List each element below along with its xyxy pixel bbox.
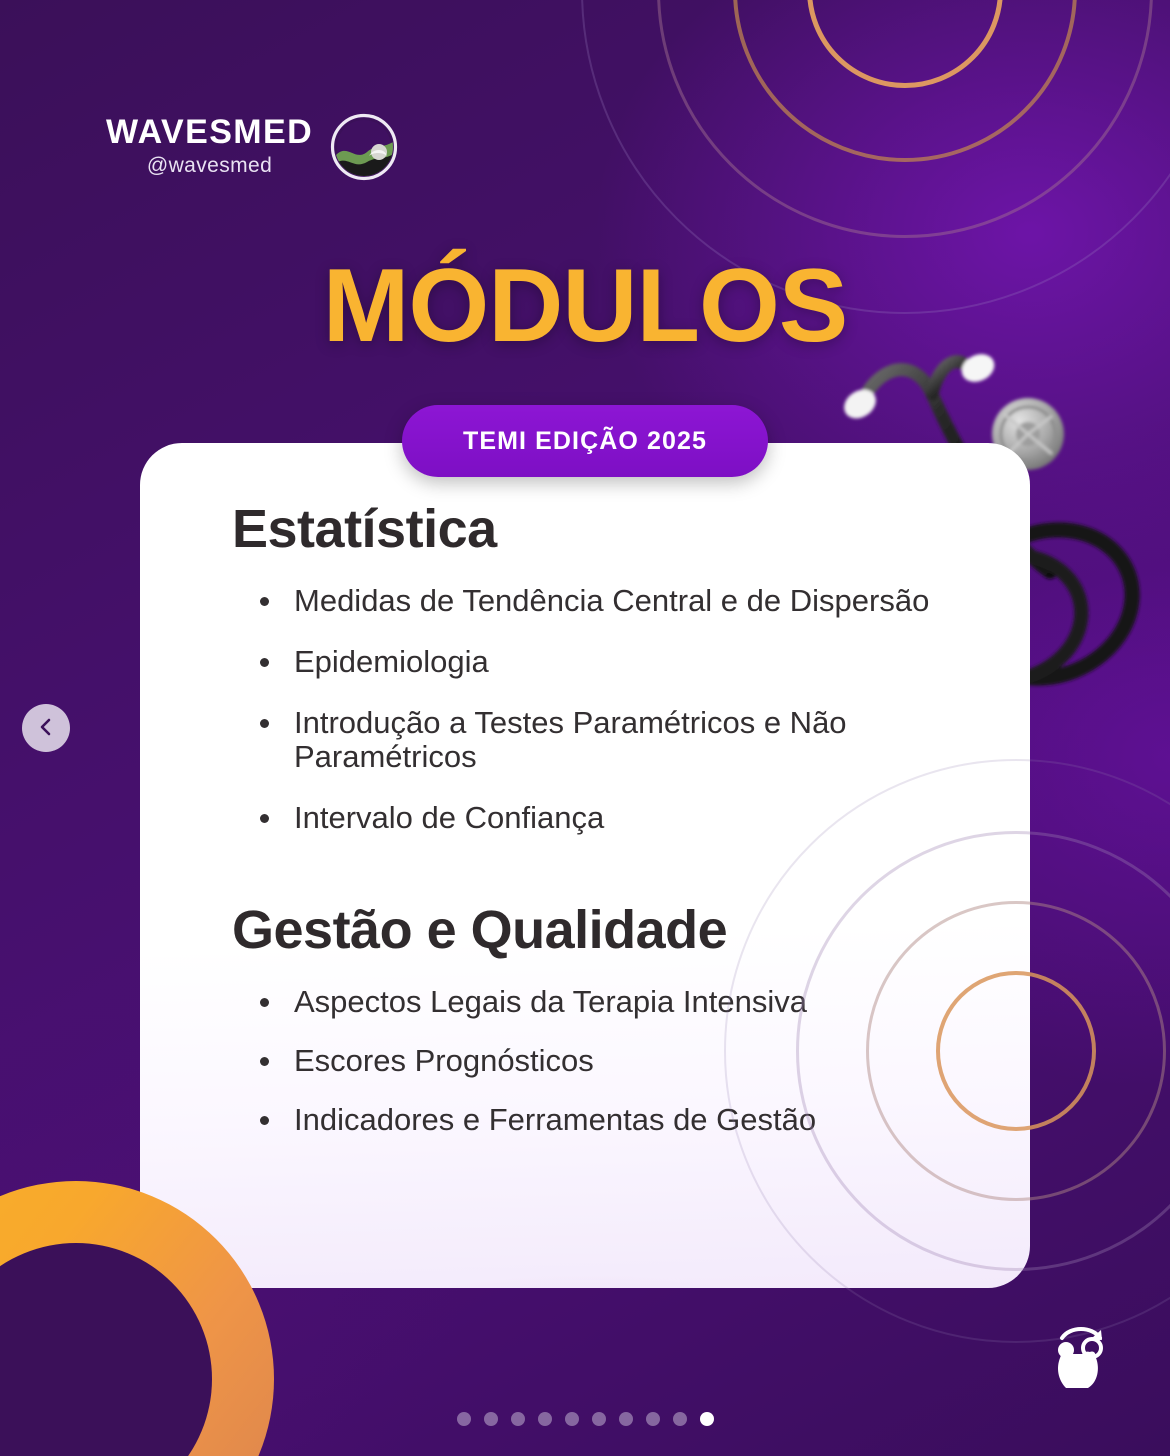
page-title: MÓDULOS [0, 254, 1170, 358]
list-item: Indicadores e Ferramentas de Gestão [256, 1103, 956, 1138]
list-item: Introdução a Testes Paramétricos e Não P… [256, 706, 956, 775]
pagination-dot[interactable] [457, 1412, 471, 1426]
topic-list-estatistica: Medidas de Tendência Central e de Disper… [256, 584, 974, 836]
instagram-carousel-slide: WAVESMED @wavesmed MÓDULOS TEMI EDIÇÃO 2… [0, 0, 1170, 1456]
brand-handle: @wavesmed [147, 152, 272, 179]
pagination-dot[interactable] [511, 1412, 525, 1426]
topic-list-gestao-e-qualidade: Aspectos Legais da Terapia Intensiva Esc… [256, 985, 974, 1137]
pagination-dot-active[interactable] [700, 1412, 714, 1426]
content-card: Estatística Medidas de Tendência Central… [140, 443, 1030, 1288]
decor-ring-top-right-1 [807, 0, 1003, 88]
content-card-inner: Estatística Medidas de Tendência Central… [140, 443, 1030, 1288]
section-heading-gestao-e-qualidade: Gestão e Qualidade [232, 902, 974, 959]
pagination-dot[interactable] [565, 1412, 579, 1426]
list-item: Aspectos Legais da Terapia Intensiva [256, 985, 956, 1020]
carousel-pagination [0, 1412, 1170, 1426]
decor-ring-top-right-2 [733, 0, 1077, 162]
brand-text: WAVESMED @wavesmed [106, 115, 313, 179]
list-item: Intervalo de Confiança [256, 801, 956, 836]
wavesmed-wave-circle-logo-icon [329, 112, 399, 182]
decor-ring-top-right-3 [657, 0, 1153, 238]
pagination-dot[interactable] [592, 1412, 606, 1426]
list-item: Medidas de Tendência Central e de Disper… [256, 584, 956, 619]
list-item: Epidemiologia [256, 645, 956, 680]
pagination-dot[interactable] [646, 1412, 660, 1426]
chevron-left-icon [34, 715, 58, 742]
section-heading-estatistica: Estatística [232, 501, 974, 558]
pagination-dot[interactable] [673, 1412, 687, 1426]
pagination-dot[interactable] [538, 1412, 552, 1426]
pagination-dot[interactable] [619, 1412, 633, 1426]
edition-badge: TEMI EDIÇÃO 2025 [402, 405, 768, 477]
brand-name: WAVESMED [106, 115, 313, 150]
swipe-hand-icon [1048, 1322, 1112, 1392]
carousel-prev-button[interactable] [22, 704, 70, 752]
pagination-dot[interactable] [484, 1412, 498, 1426]
list-item: Escores Prognósticos [256, 1044, 956, 1079]
brand-lockup: WAVESMED @wavesmed [106, 112, 399, 182]
